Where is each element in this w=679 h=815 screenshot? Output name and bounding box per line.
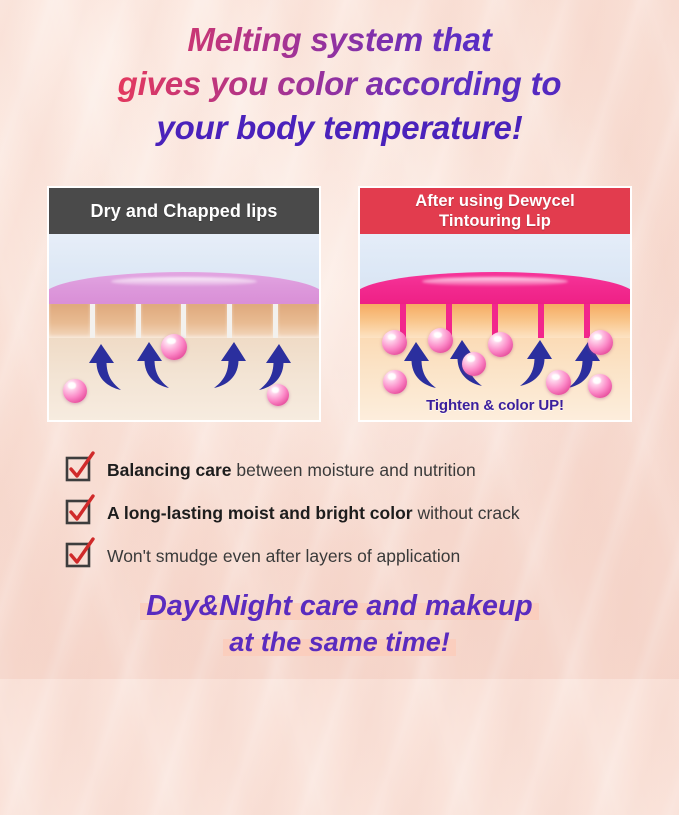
headline-line-3: your body temperature!	[0, 106, 679, 150]
footer-line-1: Day&Night care and makeup	[146, 590, 532, 622]
headline-line-2: gives you color according to	[0, 62, 679, 106]
panel-after-header-line-2: Tintouring Lip	[415, 211, 575, 231]
panel-after-illustration: Tighten & color UP!	[360, 234, 630, 422]
panel-after-caption: Tighten & color UP!	[360, 397, 630, 414]
pearl-droplet	[588, 330, 613, 355]
list-item-rest: Won't smudge even after layers of applic…	[107, 546, 460, 566]
footer-line-2: at the same time!	[229, 627, 450, 657]
panel-after-header: After using Dewycel Tintouring Lip	[360, 188, 630, 234]
pearl-droplet	[161, 334, 187, 360]
list-item-rest: without crack	[413, 503, 520, 523]
panel-after: After using Dewycel Tintouring Lip	[358, 186, 632, 422]
list-item-text: Balancing care between moisture and nutr…	[107, 459, 476, 481]
pearl-droplet	[428, 328, 453, 353]
pearl-droplet	[462, 352, 486, 376]
panel-before: Dry and Chapped lips	[47, 186, 321, 422]
pearl-droplet	[488, 332, 513, 357]
list-item-text: Won't smudge even after layers of applic…	[107, 545, 460, 567]
lip-cell-row-before	[49, 304, 319, 338]
pearl-droplet	[546, 370, 571, 395]
footer-tagline: Day&Night care and makeup at the same ti…	[0, 588, 679, 660]
pearl-droplet	[382, 330, 407, 355]
list-item: Won't smudge even after layers of applic…	[66, 534, 639, 577]
list-item-strong: Balancing care	[107, 460, 232, 480]
upward-arrow-icon	[212, 340, 254, 394]
headline: Melting system that gives you color acco…	[0, 18, 679, 150]
list-item-text: A long-lasting moist and bright color wi…	[107, 502, 520, 524]
footer-line-2-wrap: at the same time!	[223, 624, 456, 660]
pearl-droplet	[63, 379, 87, 403]
panel-before-illustration	[49, 234, 319, 422]
list-item-rest: between moisture and nutrition	[232, 460, 476, 480]
list-item-strong: A long-lasting moist and bright color	[107, 503, 413, 523]
upward-arrow-icon	[81, 342, 123, 396]
pearl-droplet	[588, 374, 612, 398]
footer-line-1-wrap: Day&Night care and makeup	[140, 588, 538, 624]
benefit-list: Balancing care between moisture and nutr…	[66, 448, 639, 577]
panel-after-header-line-1: After using Dewycel	[415, 191, 575, 211]
pearl-droplet	[383, 370, 407, 394]
list-item: Balancing care between moisture and nutr…	[66, 448, 639, 491]
headline-line-1: Melting system that	[0, 18, 679, 62]
list-item: A long-lasting moist and bright color wi…	[66, 491, 639, 534]
checkmark-icon	[66, 457, 91, 482]
pearl-droplet	[267, 384, 289, 406]
checkmark-icon	[66, 543, 91, 568]
panel-before-header: Dry and Chapped lips	[49, 188, 319, 234]
checkmark-icon	[66, 500, 91, 525]
